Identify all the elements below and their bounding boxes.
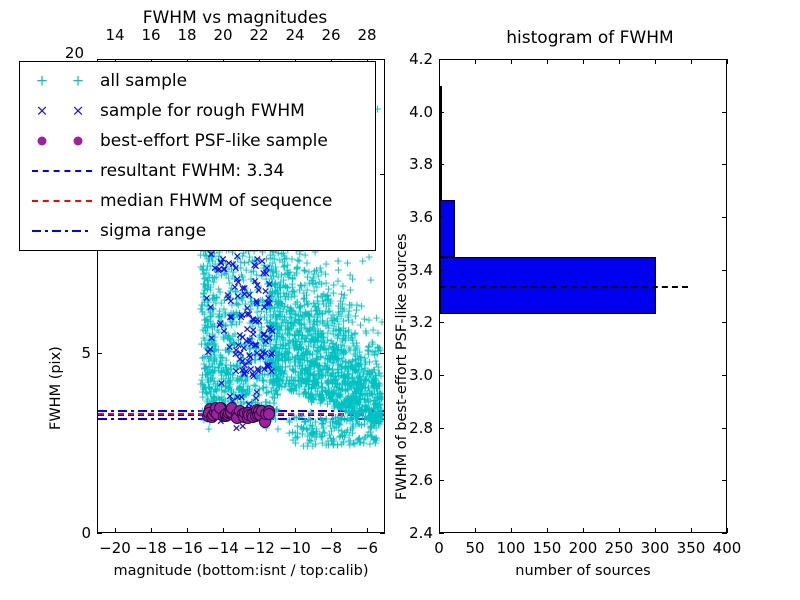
data-point-all-sample: + <box>224 373 233 384</box>
data-point-all-sample: + <box>271 364 280 375</box>
data-point-all-sample: + <box>257 399 266 410</box>
data-point-all-sample: + <box>350 344 359 355</box>
data-point-all-sample: + <box>333 391 342 402</box>
data-point-all-sample: + <box>274 292 283 303</box>
data-point-all-sample: + <box>199 260 208 271</box>
data-point-all-sample: + <box>317 267 326 278</box>
data-point-all-sample: + <box>309 297 318 308</box>
data-point-all-sample: + <box>271 297 280 308</box>
data-point-all-sample: + <box>289 385 298 396</box>
data-point-all-sample: + <box>369 377 378 388</box>
data-point-all-sample: + <box>208 372 217 383</box>
data-point-all-sample: + <box>200 250 209 261</box>
y-tick <box>722 533 727 534</box>
data-point-all-sample: + <box>348 317 357 328</box>
data-point-all-sample: + <box>359 368 368 379</box>
data-point-all-sample: + <box>352 365 361 376</box>
x-tick <box>655 528 656 533</box>
data-point-all-sample: + <box>271 375 280 386</box>
legend-item-5[interactable]: sigma range <box>20 216 375 246</box>
data-point-all-sample: + <box>235 385 244 396</box>
data-point-all-sample: + <box>338 373 347 384</box>
data-point-all-sample: + <box>260 368 269 379</box>
data-point-rough-sample: × <box>226 312 235 323</box>
data-point-all-sample: + <box>268 357 277 368</box>
data-point-all-sample: + <box>291 310 300 321</box>
data-point-all-sample: + <box>309 375 318 386</box>
data-point-all-sample: + <box>217 373 226 384</box>
data-point-all-sample: + <box>355 393 364 404</box>
data-point-all-sample: + <box>230 311 239 322</box>
data-point-all-sample: + <box>332 349 341 360</box>
data-point-all-sample: + <box>347 392 356 403</box>
data-point-all-sample: + <box>289 375 298 386</box>
data-point-all-sample: + <box>359 434 368 445</box>
data-point-all-sample: + <box>323 293 332 304</box>
data-point-all-sample: + <box>326 389 335 400</box>
data-point-all-sample: + <box>315 276 324 287</box>
data-point-all-sample: + <box>312 305 321 316</box>
data-point-all-sample: + <box>271 386 280 397</box>
data-point-all-sample: + <box>330 375 339 386</box>
y-tick-label: 2.6 <box>389 471 433 489</box>
data-point-all-sample: + <box>224 365 233 376</box>
data-point-all-sample: + <box>205 383 214 394</box>
data-point-all-sample: + <box>352 359 361 370</box>
data-point-all-sample: + <box>287 291 296 302</box>
histogram-bar <box>440 86 442 143</box>
data-point-all-sample: + <box>288 278 297 289</box>
data-point-all-sample: + <box>325 430 334 441</box>
data-point-all-sample: + <box>200 309 209 320</box>
data-point-all-sample: + <box>346 362 355 373</box>
data-point-all-sample: + <box>255 373 264 384</box>
data-point-all-sample: + <box>355 360 364 371</box>
y-tick <box>97 533 102 534</box>
data-point-all-sample: + <box>211 258 220 269</box>
data-point-all-sample: + <box>365 438 374 449</box>
data-point-all-sample: + <box>263 317 272 328</box>
data-point-all-sample: + <box>290 342 299 353</box>
data-point-all-sample: + <box>205 272 214 283</box>
data-point-all-sample: + <box>354 397 363 408</box>
data-point-all-sample: + <box>223 330 232 341</box>
data-point-all-sample: + <box>356 388 365 399</box>
data-point-all-sample: + <box>215 358 224 369</box>
data-point-all-sample: + <box>199 358 208 369</box>
data-point-all-sample: + <box>375 389 384 400</box>
data-point-all-sample: + <box>313 378 322 389</box>
y-tick <box>722 270 727 271</box>
data-point-all-sample: + <box>360 353 369 364</box>
data-point-all-sample: + <box>253 284 262 295</box>
data-point-all-sample: + <box>345 300 354 311</box>
data-point-all-sample: + <box>305 350 314 361</box>
data-point-all-sample: + <box>309 335 318 346</box>
data-point-all-sample: + <box>375 388 384 399</box>
data-point-all-sample: + <box>377 394 384 405</box>
data-point-all-sample: + <box>312 344 321 355</box>
data-point-all-sample: + <box>220 310 229 321</box>
data-point-all-sample: + <box>273 330 282 341</box>
data-point-all-sample: + <box>211 379 220 390</box>
data-point-all-sample: + <box>227 263 236 274</box>
data-point-all-sample: + <box>362 328 371 339</box>
data-point-all-sample: + <box>208 309 217 320</box>
data-point-all-sample: + <box>328 337 337 348</box>
data-point-all-sample: + <box>229 308 238 319</box>
data-point-all-sample: + <box>329 397 338 408</box>
data-point-all-sample: + <box>314 369 323 380</box>
data-point-all-sample: + <box>329 371 338 382</box>
data-point-all-sample: + <box>339 370 348 381</box>
data-point-all-sample: + <box>300 355 309 366</box>
data-point-all-sample: + <box>329 388 338 399</box>
dot-glyph <box>74 137 83 146</box>
x-tick <box>259 528 260 533</box>
legend-item-2[interactable]: best-effort PSF-like sample <box>20 126 375 156</box>
data-point-all-sample: + <box>260 301 269 312</box>
data-point-all-sample: + <box>289 340 298 351</box>
data-point-all-sample: + <box>272 366 281 377</box>
data-point-all-sample: + <box>339 292 348 303</box>
data-point-all-sample: + <box>229 337 238 348</box>
data-point-all-sample: + <box>328 393 337 404</box>
data-point-all-sample: + <box>273 325 282 336</box>
data-point-all-sample: + <box>328 338 337 349</box>
data-point-all-sample: + <box>312 305 321 316</box>
data-point-all-sample: + <box>223 333 232 344</box>
data-point-all-sample: + <box>334 371 343 382</box>
data-point-all-sample: + <box>356 352 365 363</box>
data-point-all-sample: + <box>213 379 222 390</box>
data-point-all-sample: + <box>331 339 340 350</box>
data-point-all-sample: + <box>305 336 314 347</box>
data-point-rough-sample: × <box>260 329 269 340</box>
data-point-all-sample: + <box>288 352 297 363</box>
data-point-all-sample: + <box>291 433 300 444</box>
data-point-all-sample: + <box>364 348 373 359</box>
data-point-all-sample: + <box>329 439 338 450</box>
data-point-all-sample: + <box>309 391 318 402</box>
data-point-all-sample: + <box>356 396 365 407</box>
data-point-all-sample: + <box>353 383 362 394</box>
data-point-all-sample: + <box>309 359 318 370</box>
data-point-all-sample: + <box>287 305 296 316</box>
data-point-all-sample: + <box>305 391 314 402</box>
data-point-all-sample: + <box>257 343 266 354</box>
legend-item-1[interactable]: ××sample for rough FWHM <box>20 96 375 126</box>
data-point-all-sample: + <box>201 381 210 392</box>
data-point-all-sample: + <box>254 399 263 410</box>
data-point-all-sample: + <box>219 332 228 343</box>
data-point-all-sample: + <box>236 338 245 349</box>
data-point-all-sample: + <box>346 435 355 446</box>
data-point-all-sample: + <box>317 308 326 319</box>
reference-line-2 <box>98 410 384 412</box>
data-point-rough-sample: × <box>254 285 263 296</box>
data-point-all-sample: + <box>329 320 338 331</box>
data-point-all-sample: + <box>313 429 322 440</box>
data-point-all-sample: + <box>310 359 319 370</box>
data-point-all-sample: + <box>302 424 311 435</box>
data-point-all-sample: + <box>225 278 234 289</box>
data-point-all-sample: + <box>337 361 346 372</box>
data-point-all-sample: + <box>329 353 338 364</box>
data-point-all-sample: + <box>374 368 383 379</box>
data-point-all-sample: + <box>327 391 336 402</box>
data-point-all-sample: + <box>353 379 362 390</box>
data-point-all-sample: + <box>288 321 297 332</box>
data-point-all-sample: + <box>341 334 350 345</box>
data-point-all-sample: + <box>338 411 347 422</box>
data-point-all-sample: + <box>360 314 369 325</box>
data-point-all-sample: + <box>252 306 261 317</box>
data-point-all-sample: + <box>303 440 312 451</box>
data-point-all-sample: + <box>364 340 373 351</box>
data-point-all-sample: + <box>304 310 313 321</box>
data-point-all-sample: + <box>309 394 318 405</box>
data-point-all-sample: + <box>281 280 290 291</box>
data-point-all-sample: + <box>358 381 367 392</box>
data-point-all-sample: + <box>203 294 212 305</box>
data-point-all-sample: + <box>271 339 280 350</box>
data-point-all-sample: + <box>255 389 264 400</box>
data-point-all-sample: + <box>262 357 271 368</box>
data-point-all-sample: + <box>277 375 286 386</box>
data-point-all-sample: + <box>340 376 349 387</box>
data-point-all-sample: + <box>349 389 358 400</box>
data-point-rough-sample: × <box>252 386 261 397</box>
data-point-all-sample: + <box>324 322 333 333</box>
data-point-all-sample: + <box>311 325 320 336</box>
data-point-all-sample: + <box>262 306 271 317</box>
data-point-all-sample: + <box>209 290 218 301</box>
data-point-all-sample: + <box>301 308 310 319</box>
data-point-all-sample: + <box>352 304 361 315</box>
data-point-all-sample: + <box>238 386 247 397</box>
data-point-all-sample: + <box>297 424 306 435</box>
data-point-all-sample: + <box>301 369 310 380</box>
data-point-all-sample: + <box>309 378 318 389</box>
data-point-all-sample: + <box>296 300 305 311</box>
data-point-all-sample: + <box>303 299 312 310</box>
data-point-all-sample: + <box>277 299 286 310</box>
data-point-all-sample: + <box>205 254 214 265</box>
data-point-all-sample: + <box>267 360 276 371</box>
data-point-all-sample: + <box>215 394 224 405</box>
data-point-all-sample: + <box>316 370 325 381</box>
data-point-all-sample: + <box>205 360 214 371</box>
data-point-rough-sample: × <box>216 256 225 267</box>
data-point-all-sample: + <box>257 305 266 316</box>
data-point-all-sample: + <box>350 398 359 409</box>
data-point-all-sample: + <box>226 315 235 326</box>
data-point-all-sample: + <box>237 331 246 342</box>
data-point-all-sample: + <box>294 378 303 389</box>
data-point-all-sample: + <box>220 399 229 410</box>
x-tick <box>115 528 116 533</box>
data-point-all-sample: + <box>364 375 373 386</box>
data-point-all-sample: + <box>347 392 356 403</box>
data-point-all-sample: + <box>331 378 340 389</box>
data-point-all-sample: + <box>291 437 300 448</box>
y-tick <box>722 322 727 323</box>
data-point-all-sample: + <box>197 303 206 314</box>
data-point-all-sample: + <box>270 392 279 403</box>
data-point-all-sample: + <box>340 331 349 342</box>
data-point-all-sample: + <box>355 372 364 383</box>
data-point-all-sample: + <box>248 397 257 408</box>
data-point-all-sample: + <box>261 340 270 351</box>
data-point-all-sample: + <box>255 363 264 374</box>
data-point-all-sample: + <box>203 283 212 294</box>
data-point-all-sample: + <box>275 381 284 392</box>
data-point-all-sample: + <box>368 380 377 391</box>
data-point-all-sample: + <box>212 266 221 277</box>
data-point-all-sample: + <box>272 375 281 386</box>
data-point-all-sample: + <box>308 358 317 369</box>
legend-item-label: best-effort PSF-like sample <box>100 131 328 151</box>
data-point-all-sample: + <box>202 387 211 398</box>
legend-box[interactable]: ++all sample××sample for rough FWHMbest-… <box>19 61 376 251</box>
data-point-all-sample: + <box>198 378 207 389</box>
data-point-all-sample: + <box>219 365 228 376</box>
legend-item-label: sample for rough FWHM <box>100 101 305 121</box>
data-point-all-sample: + <box>317 392 326 403</box>
data-point-all-sample: + <box>290 318 299 329</box>
data-point-all-sample: + <box>355 382 364 393</box>
data-point-all-sample: + <box>356 379 365 390</box>
data-point-rough-sample: × <box>206 343 215 354</box>
data-point-all-sample: + <box>267 290 276 301</box>
data-point-all-sample: + <box>276 366 285 377</box>
data-point-all-sample: + <box>366 421 375 432</box>
data-point-all-sample: + <box>266 339 275 350</box>
data-point-all-sample: + <box>354 383 363 394</box>
data-point-all-sample: + <box>235 311 244 322</box>
data-point-all-sample: + <box>313 311 322 322</box>
data-point-all-sample: + <box>343 395 352 406</box>
data-point-all-sample: + <box>225 345 234 356</box>
data-point-all-sample: + <box>273 313 282 324</box>
data-point-all-sample: + <box>281 356 290 367</box>
data-point-all-sample: + <box>281 321 290 332</box>
data-point-all-sample: + <box>272 296 281 307</box>
data-point-all-sample: + <box>340 431 349 442</box>
data-point-psf-sample <box>226 402 238 414</box>
data-point-all-sample: + <box>206 352 215 363</box>
data-point-all-sample: + <box>202 328 211 339</box>
data-point-all-sample: + <box>321 369 330 380</box>
data-point-all-sample: + <box>336 388 345 399</box>
data-point-all-sample: + <box>354 389 363 400</box>
data-point-all-sample: + <box>344 343 353 354</box>
data-point-all-sample: + <box>336 325 345 336</box>
data-point-all-sample: + <box>319 318 328 329</box>
data-point-all-sample: + <box>229 360 238 371</box>
legend-item-0[interactable]: ++all sample <box>20 66 375 96</box>
y-tick <box>439 112 444 113</box>
data-point-all-sample: + <box>305 376 314 387</box>
data-point-all-sample: + <box>344 309 353 320</box>
y-tick <box>722 480 727 481</box>
data-point-all-sample: + <box>318 437 327 448</box>
legend-item-3[interactable]: resultant FWHM: 3.34 <box>20 156 375 186</box>
data-point-all-sample: + <box>351 354 360 365</box>
data-point-all-sample: + <box>303 391 312 402</box>
data-point-all-sample: + <box>372 394 381 405</box>
data-point-all-sample: + <box>346 392 355 403</box>
data-point-all-sample: + <box>307 382 316 393</box>
data-point-all-sample: + <box>306 363 315 374</box>
data-point-all-sample: + <box>201 338 210 349</box>
data-point-all-sample: + <box>273 375 282 386</box>
data-point-all-sample: + <box>255 351 264 362</box>
data-point-all-sample: + <box>292 267 301 278</box>
data-point-all-sample: + <box>330 342 339 353</box>
data-point-all-sample: + <box>340 378 349 389</box>
data-point-all-sample: + <box>281 362 290 373</box>
data-point-all-sample: + <box>301 363 310 374</box>
data-point-all-sample: + <box>285 328 294 339</box>
data-point-all-sample: + <box>247 396 256 407</box>
data-point-all-sample: + <box>265 318 274 329</box>
data-point-all-sample: + <box>340 377 349 388</box>
data-point-all-sample: + <box>206 318 215 329</box>
data-point-all-sample: + <box>375 392 384 403</box>
data-point-all-sample: + <box>203 275 212 286</box>
data-point-all-sample: + <box>248 255 257 266</box>
data-point-all-sample: + <box>226 285 235 296</box>
data-point-all-sample: + <box>245 344 254 355</box>
data-point-all-sample: + <box>295 284 304 295</box>
data-point-all-sample: + <box>203 316 212 327</box>
data-point-all-sample: + <box>363 430 372 441</box>
data-point-all-sample: + <box>226 360 235 371</box>
data-point-all-sample: + <box>305 309 314 320</box>
data-point-all-sample: + <box>341 372 350 383</box>
data-point-all-sample: + <box>232 306 241 317</box>
data-point-all-sample: + <box>206 389 215 400</box>
x-tick <box>511 59 512 64</box>
data-point-all-sample: + <box>303 284 312 295</box>
data-point-all-sample: + <box>326 370 335 381</box>
data-point-all-sample: + <box>297 368 306 379</box>
data-point-all-sample: + <box>270 363 279 374</box>
data-point-all-sample: + <box>331 378 340 389</box>
data-point-all-sample: + <box>210 361 219 372</box>
data-point-all-sample: + <box>275 381 284 392</box>
data-point-all-sample: + <box>326 420 335 431</box>
legend-item-4[interactable]: median FHWM of sequence <box>20 186 375 216</box>
data-point-all-sample: + <box>278 375 287 386</box>
data-point-all-sample: + <box>275 328 284 339</box>
histogram-axes[interactable] <box>439 59 727 533</box>
data-point-all-sample: + <box>252 374 261 385</box>
data-point-all-sample: + <box>300 350 309 361</box>
data-point-all-sample: + <box>343 394 352 405</box>
data-point-all-sample: + <box>337 399 346 410</box>
data-point-all-sample: + <box>333 333 342 344</box>
data-point-all-sample: + <box>334 301 343 312</box>
data-point-all-sample: + <box>317 419 326 430</box>
data-point-all-sample: + <box>297 365 306 376</box>
data-point-all-sample: + <box>248 298 257 309</box>
data-point-all-sample: + <box>279 317 288 328</box>
data-point-all-sample: + <box>344 373 353 384</box>
data-point-all-sample: + <box>280 261 289 272</box>
